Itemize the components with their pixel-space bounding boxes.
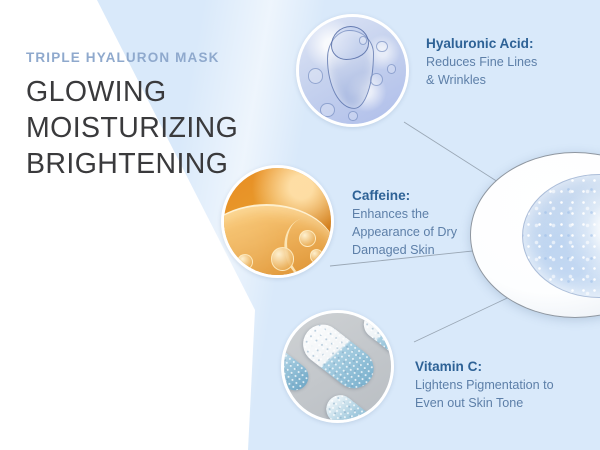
bubble-icon bbox=[308, 68, 324, 84]
ingredient-desc-caffeine: Enhances the Appearance of Dry Damaged S… bbox=[352, 206, 457, 260]
product-jar-image bbox=[470, 152, 600, 318]
ingredient-image-caffeine bbox=[221, 165, 334, 278]
bubble-icon bbox=[320, 103, 335, 118]
oil-texture bbox=[224, 168, 331, 275]
bubble-icon bbox=[237, 254, 253, 270]
desc-line: & Wrinkles bbox=[426, 72, 537, 90]
ingredient-image-hyaluronic bbox=[296, 14, 409, 127]
bubble-icon bbox=[299, 230, 316, 247]
bubble-icon bbox=[348, 111, 357, 120]
ingredient-title-hyaluronic: Hyaluronic Acid: bbox=[426, 34, 537, 53]
bubble-icon bbox=[370, 73, 384, 87]
ingredient-title-vitaminc: Vitamin C: bbox=[415, 357, 554, 376]
eyebrow-text: TRIPLE HYALURON MASK bbox=[26, 50, 256, 65]
ingredient-desc-hyaluronic: Reduces Fine Lines & Wrinkles bbox=[426, 54, 537, 90]
ingredient-image-vitaminc bbox=[281, 310, 394, 423]
headline-line-3: BRIGHTENING bbox=[26, 146, 256, 182]
bubble-icon bbox=[376, 41, 388, 53]
desc-line: Even out Skin Tone bbox=[415, 395, 554, 413]
desc-line: Lightens Pigmentation to bbox=[415, 377, 554, 395]
desc-line: Appearance of Dry bbox=[352, 224, 457, 242]
jar-sparkle-texture bbox=[523, 175, 600, 297]
jar-gel-contents bbox=[522, 174, 600, 298]
page-title: GLOWING MOISTURIZING BRIGHTENING bbox=[26, 74, 256, 183]
ingredient-info-hyaluronic: Hyaluronic Acid: Reduces Fine Lines & Wr… bbox=[426, 34, 537, 90]
capsule-speckles bbox=[320, 390, 384, 423]
bubble-icon bbox=[271, 247, 294, 270]
ingredient-desc-vitaminc: Lightens Pigmentation to Even out Skin T… bbox=[415, 377, 554, 413]
bubble-icon bbox=[387, 64, 396, 73]
bubble-icon bbox=[359, 36, 367, 44]
capsule-texture bbox=[284, 313, 391, 420]
headline-line-2: MOISTURIZING bbox=[26, 110, 256, 146]
infographic-canvas: TRIPLE HYALURON MASK GLOWING MOISTURIZIN… bbox=[0, 0, 600, 450]
ingredient-info-caffeine: Caffeine: Enhances the Appearance of Dry… bbox=[352, 186, 457, 260]
capsule-item bbox=[320, 390, 384, 423]
desc-line: Reduces Fine Lines bbox=[426, 54, 537, 72]
ingredient-info-vitaminc: Vitamin C: Lightens Pigmentation to Even… bbox=[415, 357, 554, 413]
gel-texture bbox=[299, 17, 406, 124]
headline-block: TRIPLE HYALURON MASK GLOWING MOISTURIZIN… bbox=[26, 50, 256, 183]
desc-line: Enhances the bbox=[352, 206, 457, 224]
desc-line: Damaged Skin bbox=[352, 242, 457, 260]
headline-line-1: GLOWING bbox=[26, 74, 256, 110]
ingredient-title-caffeine: Caffeine: bbox=[352, 186, 457, 205]
